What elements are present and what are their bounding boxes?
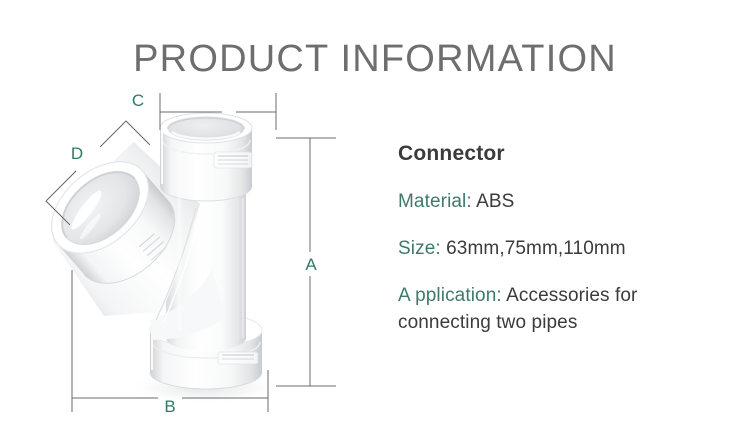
spec-material-label: Material: [398,191,472,212]
product-name: Connector [398,142,728,165]
page-title: PRODUCT INFORMATION [0,38,750,81]
dimension-label-d: D [66,145,88,162]
spec-material-value: ABS [476,191,514,212]
dimension-label-c: C [0,92,276,109]
spec-application-label: A pplication: [398,285,502,306]
spec-size: Size: 63mm,75mm,110mm [398,236,728,263]
spec-size-value: 63mm,75mm,110mm [446,238,626,259]
product-info-block: Connector Material: ABS Size: 63mm,75mm,… [398,142,728,337]
dimension-label-a: A [300,256,322,273]
bottom-socket-rib [218,352,258,364]
spec-material: Material: ABS [398,189,728,216]
top-socket [160,113,252,201]
top-socket-rib [214,152,252,168]
product-information-page: PRODUCT INFORMATION [0,0,750,445]
dimension-label-b: B [72,398,268,415]
spec-size-label: Size: [398,238,441,259]
spec-application: A pplication: Accessories for connecting… [398,283,728,337]
